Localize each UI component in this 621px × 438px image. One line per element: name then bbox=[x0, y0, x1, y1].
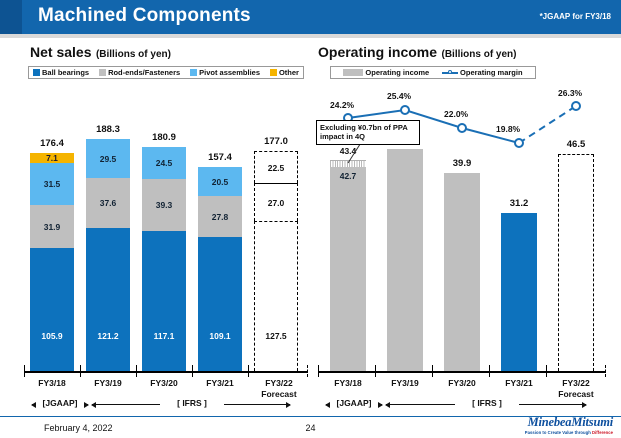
logo-tagline-a: Passion to Create Value through bbox=[525, 430, 592, 435]
net-sales-tick-5 bbox=[307, 365, 309, 377]
legend-item-rod-ends: Rod-ends/Fasteners bbox=[99, 68, 180, 77]
net-sales-xlabel-4: FY3/22 bbox=[254, 378, 304, 388]
legend-swatch-operating-income bbox=[343, 69, 363, 76]
header-shadow bbox=[0, 34, 621, 38]
page-title: Machined Components bbox=[38, 5, 251, 27]
oi-tick-1 bbox=[375, 365, 376, 377]
net-sales-title: Net sales (Billions of yen) bbox=[30, 44, 171, 62]
net-sales-seg-rodends-0: 31.9 bbox=[30, 205, 74, 248]
oi-margin-label-1: 25.4% bbox=[387, 91, 411, 101]
net-sales-bar-2: 24.5 39.3 117.1 bbox=[142, 147, 186, 371]
net-sales-seg-ballbearings-4: 127.5 bbox=[254, 221, 298, 371]
oi-margin-label-3: 19.8% bbox=[496, 124, 520, 134]
net-sales-legend: Ball bearings Rod-ends/Fasteners Pivot a… bbox=[28, 66, 304, 79]
oi-margin-label-2: 22.0% bbox=[444, 109, 468, 119]
net-sales-xlabel-3: FY3/21 bbox=[198, 378, 242, 388]
logo-tagline-b: Difference bbox=[592, 430, 613, 435]
net-sales-tick-2 bbox=[136, 365, 137, 377]
legend-item-other: Other bbox=[270, 68, 299, 77]
oi-xlabel-2: FY3/20 bbox=[442, 378, 482, 388]
net-sales-seg-rodends-1: 37.6 bbox=[86, 178, 130, 228]
oi-xlabel-3: FY3/21 bbox=[499, 378, 539, 388]
legend-label-operating-income: Operating income bbox=[365, 68, 429, 77]
net-sales-bar-0: 7.1 31.5 31.9 105.9 bbox=[30, 153, 74, 371]
net-sales-tick-3 bbox=[192, 365, 193, 377]
margin-marker-1 bbox=[401, 106, 409, 114]
net-sales-xlabel-4-sub: Forecast bbox=[254, 389, 304, 399]
net-sales-xlabel-1: FY3/19 bbox=[86, 378, 130, 388]
net-sales-total-3: 157.4 bbox=[198, 152, 242, 163]
net-sales-seg-pivot-0: 31.5 bbox=[30, 163, 74, 205]
legend-label-ball-bearings: Ball bearings bbox=[42, 68, 89, 77]
oi-bar-0-value: 42.7 bbox=[330, 167, 366, 371]
operating-income-title-text: Operating income bbox=[318, 44, 437, 60]
net-sales-bar-4: 22.5 27.0 127.5 bbox=[254, 151, 298, 371]
net-sales-xlabel-2: FY3/20 bbox=[142, 378, 186, 388]
oi-value-label-3: 31.2 bbox=[499, 198, 539, 209]
legend-label-pivot-assemblies: Pivot assemblies bbox=[199, 68, 260, 77]
operating-income-x-axis bbox=[318, 371, 606, 373]
oi-value-label-4: 46.5 bbox=[556, 139, 596, 150]
company-logo: MinebeaMitsumi Passion to Create Value t… bbox=[525, 415, 613, 435]
oi-jgaap-label: [JGAAP] bbox=[330, 398, 378, 408]
legend-line-operating-margin bbox=[442, 69, 458, 76]
net-sales-seg-pivot-3: 20.5 bbox=[198, 167, 242, 196]
oi-tick-5 bbox=[605, 365, 607, 377]
logo-name: MinebeaMitsumi bbox=[525, 415, 613, 430]
net-sales-tick-1 bbox=[80, 365, 81, 377]
oi-bar-4 bbox=[558, 154, 594, 371]
net-sales-title-text: Net sales bbox=[30, 44, 91, 60]
net-sales-xlabel-0: FY3/18 bbox=[30, 378, 74, 388]
net-sales-total-2: 180.9 bbox=[142, 132, 186, 143]
net-sales-chart: 176.4 7.1 31.5 31.9 105.9 188.3 29.5 37.… bbox=[24, 88, 308, 380]
legend-item-operating-margin: Operating margin bbox=[442, 68, 523, 77]
oi-tick-0 bbox=[318, 365, 319, 377]
net-sales-seg-pivot-4: 22.5 bbox=[254, 151, 298, 183]
operating-income-legend: Operating income Operating margin bbox=[330, 66, 536, 79]
oi-margin-label-4: 26.3% bbox=[558, 88, 582, 98]
margin-line-dashed bbox=[519, 106, 576, 143]
oi-xlabel-4-sub: Forecast bbox=[553, 389, 599, 399]
header-footnote: *JGAAP for FY3/18 bbox=[540, 12, 611, 21]
oi-bar-0-hatch-cap bbox=[330, 160, 366, 167]
legend-swatch-pivot-assemblies bbox=[190, 69, 197, 76]
net-sales-bar-3: 20.5 27.8 109.1 bbox=[198, 167, 242, 371]
net-sales-seg-rodends-2: 39.3 bbox=[142, 179, 186, 231]
net-sales-seg-rodends-4: 27.0 bbox=[254, 183, 298, 221]
legend-label-operating-margin: Operating margin bbox=[460, 68, 523, 77]
oi-bar-0: 42.7 bbox=[330, 160, 366, 371]
oi-margin-label-0: 24.2% bbox=[330, 100, 354, 110]
legend-swatch-rod-ends bbox=[99, 69, 106, 76]
oi-top-value-0: 43.4 bbox=[328, 146, 368, 156]
legend-item-pivot-assemblies: Pivot assemblies bbox=[190, 68, 260, 77]
oi-tick-2 bbox=[432, 365, 433, 377]
oi-bar-2 bbox=[444, 173, 480, 371]
oi-tick-4 bbox=[546, 365, 547, 377]
net-sales-seg-ballbearings-3: 109.1 bbox=[198, 237, 242, 371]
oi-xlabel-0: FY3/18 bbox=[328, 378, 368, 388]
logo-tagline: Passion to Create Value through Differen… bbox=[525, 430, 613, 435]
operating-income-unit: (Billions of yen) bbox=[441, 49, 516, 60]
net-sales-ifrs-label: [ IFRS ] bbox=[160, 398, 224, 408]
oi-xlabel-1: FY3/19 bbox=[385, 378, 425, 388]
slide-header: Machined Components *JGAAP for FY3/18 bbox=[0, 0, 621, 34]
net-sales-seg-pivot-1: 29.5 bbox=[86, 139, 130, 178]
oi-tick-3 bbox=[489, 365, 490, 377]
oi-value-label-2: 39.9 bbox=[442, 158, 482, 169]
net-sales-tick-4 bbox=[248, 365, 249, 377]
legend-label-other: Other bbox=[279, 68, 299, 77]
net-sales-total-4: 177.0 bbox=[254, 136, 298, 147]
margin-marker-3 bbox=[515, 139, 523, 147]
legend-swatch-other bbox=[270, 69, 277, 76]
legend-item-operating-income: Operating income bbox=[343, 68, 429, 77]
ppa-callout: Excluding ¥0.7bn of PPA impact in 4Q bbox=[316, 120, 420, 145]
net-sales-total-0: 176.4 bbox=[30, 138, 74, 149]
slide: Machined Components *JGAAP for FY3/18 Ne… bbox=[0, 0, 621, 438]
net-sales-x-axis bbox=[24, 371, 308, 373]
oi-xlabel-4: FY3/22 bbox=[553, 378, 599, 388]
header-accent-bar bbox=[0, 0, 22, 34]
net-sales-seg-ballbearings-1: 121.2 bbox=[86, 228, 130, 371]
margin-marker-4 bbox=[572, 102, 580, 110]
net-sales-seg-pivot-2: 24.5 bbox=[142, 147, 186, 179]
legend-item-ball-bearings: Ball bearings bbox=[33, 68, 89, 77]
net-sales-seg-ballbearings-0: 105.9 bbox=[30, 248, 74, 371]
oi-bar-1 bbox=[387, 149, 423, 371]
net-sales-jgaap-label: [JGAAP] bbox=[36, 398, 84, 408]
oi-ifrs-label: [ IFRS ] bbox=[455, 398, 519, 408]
net-sales-seg-ballbearings-2: 117.1 bbox=[142, 231, 186, 371]
net-sales-seg-other-0: 7.1 bbox=[30, 153, 74, 163]
net-sales-tick-0 bbox=[24, 365, 25, 377]
net-sales-seg-rodends-3: 27.8 bbox=[198, 196, 242, 237]
legend-swatch-ball-bearings bbox=[33, 69, 40, 76]
net-sales-total-1: 188.3 bbox=[86, 124, 130, 135]
legend-label-rod-ends: Rod-ends/Fasteners bbox=[108, 68, 180, 77]
oi-bar-3 bbox=[501, 213, 537, 371]
margin-marker-2 bbox=[458, 124, 466, 132]
net-sales-unit: (Billions of yen) bbox=[96, 49, 171, 60]
operating-income-title: Operating income (Billions of yen) bbox=[318, 44, 516, 62]
net-sales-bar-1: 29.5 37.6 121.2 bbox=[86, 139, 130, 371]
